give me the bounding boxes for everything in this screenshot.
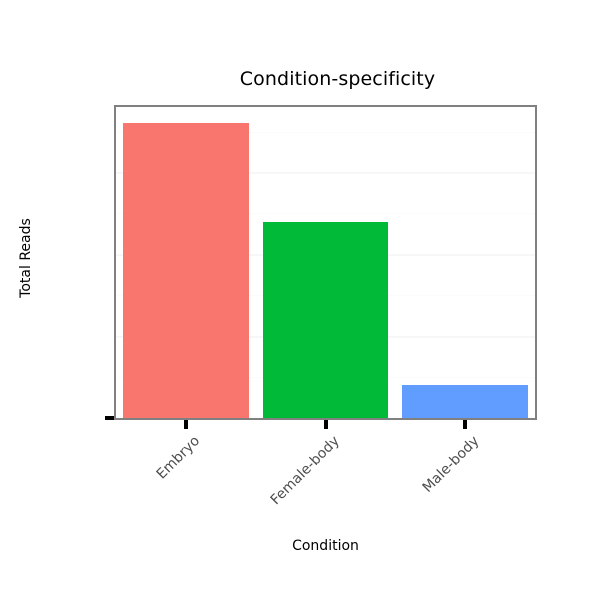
x-axis-tick [184, 420, 188, 429]
x-axis-tick-label: Female-body [97, 433, 343, 600]
x-axis-title: Condition [114, 538, 537, 554]
bar [402, 385, 528, 418]
bar [263, 222, 389, 418]
x-axis-tick-label: Embryo [56, 433, 203, 580]
bar-chart-figure: Condition-specificity Total Reads Embryo… [0, 0, 600, 600]
y-axis-tick [105, 416, 114, 420]
x-axis-tick [324, 420, 328, 429]
plot-panel [114, 105, 537, 420]
chart-title: Condition-specificity [25, 68, 600, 90]
bar [123, 123, 249, 418]
bars-layer [116, 107, 535, 418]
y-axis-title: Total Reads [18, 198, 34, 318]
x-axis-tick [463, 420, 467, 429]
